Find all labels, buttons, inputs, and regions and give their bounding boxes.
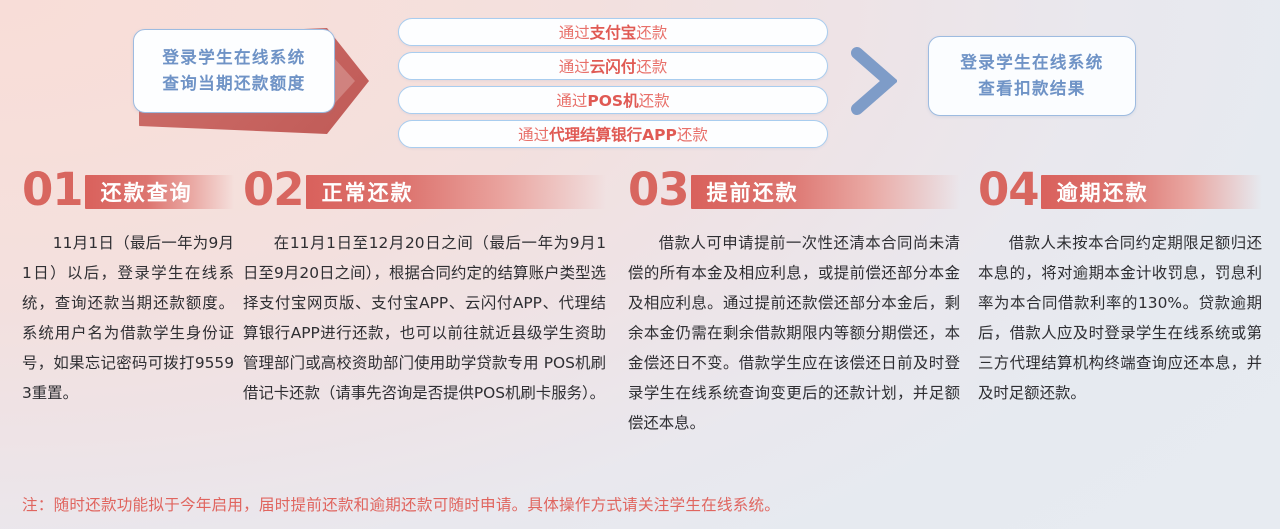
result-box-line-2: 查看扣款结果 xyxy=(978,76,1085,102)
payment-method-pill-bank-app[interactable]: 通过代理结算银行APP还款 xyxy=(398,120,828,148)
payment-method-pill-unionpay[interactable]: 通过云闪付还款 xyxy=(398,52,828,80)
step-body-2: 在11月1日至12月20日之间（最后一年为9月1日至9月20日之间），根据合同约… xyxy=(243,228,606,408)
step-column-1: 01 还款查询 11月1日（最后一年为9月1日）以后，登录学生在线系统，查询还款… xyxy=(22,168,234,408)
payment-method-pill-pos[interactable]: 通过POS机还款 xyxy=(398,86,828,114)
step-number-3: 03 xyxy=(628,168,689,212)
payment-method-pill-alipay[interactable]: 通过支付宝还款 xyxy=(398,18,828,46)
step-header-1: 01 还款查询 xyxy=(22,168,234,220)
step-title-2: 正常还款 xyxy=(322,177,414,207)
step-header-2: 02 正常还款 xyxy=(243,168,606,220)
flow-diagram: 登录学生在线系统 查询当期还款额度 通过支付宝还款 通过云闪付还款 通过POS机… xyxy=(0,0,1280,160)
step-banner-3: 提前还款 xyxy=(691,175,960,209)
pill-label-bank-app: 通过代理结算银行APP还款 xyxy=(518,123,708,145)
step-banner-2: 正常还款 xyxy=(306,175,606,209)
step-body-1: 11月1日（最后一年为9月1日）以后，登录学生在线系统，查询还款当期还款额度。系… xyxy=(22,228,234,408)
step-column-3: 03 提前还款 借款人可申请提前一次性还清本合同尚未清偿的所有本金及相应利息，或… xyxy=(628,168,960,438)
step-body-3: 借款人可申请提前一次性还清本合同尚未清偿的所有本金及相应利息，或提前偿还部分本金… xyxy=(628,228,960,438)
step-column-2: 02 正常还款 在11月1日至12月20日之间（最后一年为9月1日至9月20日之… xyxy=(243,168,606,408)
step-number-4: 04 xyxy=(978,168,1039,212)
pill-label-alipay: 通过支付宝还款 xyxy=(559,21,668,43)
step-banner-4: 逾期还款 xyxy=(1041,175,1262,209)
login-query-box[interactable]: 登录学生在线系统 查询当期还款额度 xyxy=(133,29,335,113)
step-header-4: 04 逾期还款 xyxy=(978,168,1262,220)
step-title-1: 还款查询 xyxy=(101,177,193,207)
result-box-line-1: 登录学生在线系统 xyxy=(960,50,1103,76)
pill-label-unionpay: 通过云闪付还款 xyxy=(559,55,668,77)
step-banner-1: 还款查询 xyxy=(85,175,234,209)
steps-section: 01 还款查询 11月1日（最后一年为9月1日）以后，登录学生在线系统，查询还款… xyxy=(0,168,1280,478)
login-box-line-1: 登录学生在线系统 xyxy=(162,45,305,71)
step-column-4: 04 逾期还款 借款人未按本合同约定期限足额归还本息的，将对逾期本金计收罚息，罚… xyxy=(978,168,1262,408)
step-header-3: 03 提前还款 xyxy=(628,168,960,220)
pill-label-pos: 通过POS机还款 xyxy=(556,89,669,111)
step-body-4: 借款人未按本合同约定期限足额归还本息的，将对逾期本金计收罚息，罚息利率为本合同借… xyxy=(978,228,1262,408)
login-box-line-2: 查询当期还款额度 xyxy=(162,71,305,97)
payment-method-pill-list: 通过支付宝还款 通过云闪付还款 通过POS机还款 通过代理结算银行APP还款 xyxy=(398,18,828,154)
step-title-3: 提前还款 xyxy=(707,177,799,207)
step-number-1: 01 xyxy=(22,168,83,212)
step-title-4: 逾期还款 xyxy=(1057,177,1149,207)
footer-note: 注：随时还款功能拟于今年启用，届时提前还款和逾期还款可随时申请。具体操作方式请关… xyxy=(22,493,780,515)
check-result-box[interactable]: 登录学生在线系统 查看扣款结果 xyxy=(928,36,1136,116)
step-number-2: 02 xyxy=(243,168,304,212)
chevron-right-icon xyxy=(851,47,897,115)
